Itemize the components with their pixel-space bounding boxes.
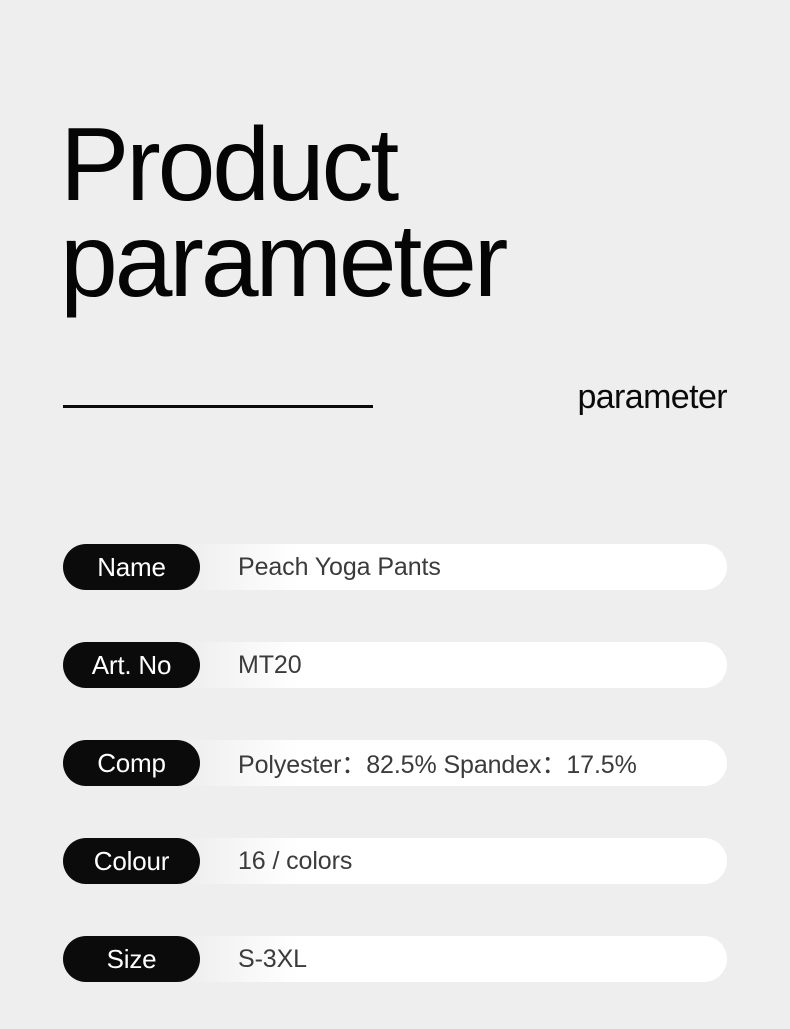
section-subtitle: parameter	[577, 376, 727, 418]
parameter-label-name: Name	[63, 544, 200, 590]
parameter-label-colour: Colour	[63, 838, 200, 884]
page-title-line-2: parameter	[60, 214, 740, 310]
parameter-value-colour: 16 / colors	[238, 838, 352, 884]
parameter-value-size: S-3XL	[238, 936, 307, 982]
page-title: Product parameter	[60, 118, 740, 309]
parameter-list: Name Peach Yoga Pants Art. No MT20 Comp …	[63, 544, 727, 982]
parameter-label-art-no: Art. No	[63, 642, 200, 688]
parameter-value-name: Peach Yoga Pants	[238, 544, 441, 590]
title-underline-row: parameter	[63, 376, 727, 420]
parameter-row-size: Size S-3XL	[63, 936, 727, 982]
parameter-value-art-no: MT20	[238, 642, 302, 688]
divider-rule	[63, 405, 373, 408]
parameter-row-colour: Colour 16 / colors	[63, 838, 727, 884]
parameter-value-comp: Polyester：82.5% Spandex：17.5%	[238, 740, 637, 786]
parameter-row-art-no: Art. No MT20	[63, 642, 727, 688]
parameter-row-comp: Comp Polyester：82.5% Spandex：17.5%	[63, 740, 727, 786]
parameter-label-size: Size	[63, 936, 200, 982]
page-title-line-1: Product	[60, 118, 740, 214]
parameter-label-comp: Comp	[63, 740, 200, 786]
parameter-row-name: Name Peach Yoga Pants	[63, 544, 727, 590]
